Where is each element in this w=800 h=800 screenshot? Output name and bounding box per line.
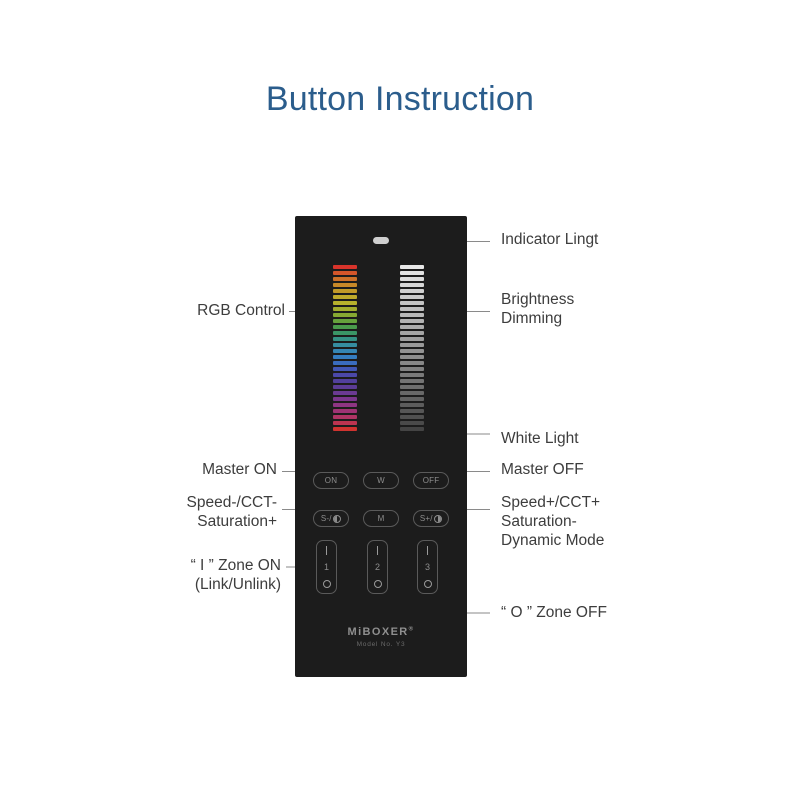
strip-segment[interactable] (400, 313, 424, 317)
half-moon-icon (333, 515, 341, 523)
zone-on-icon[interactable] (377, 546, 379, 555)
callout-master-on: Master ON (125, 461, 277, 480)
callout-speed-plus: Speed+/CCT+ Saturation- Dynamic Mode (501, 494, 604, 551)
strip-segment[interactable] (333, 409, 357, 413)
brand-text: MiBOXER (348, 626, 409, 638)
callout-brightness-dimming: Brightness Dimming (501, 291, 574, 329)
strip-segment[interactable] (400, 361, 424, 365)
brightness-dimming-strip[interactable] (400, 265, 424, 431)
strip-segment[interactable] (333, 385, 357, 389)
speed-minus-button[interactable]: S-/ (313, 510, 349, 527)
strip-segment[interactable] (333, 283, 357, 287)
strip-segment[interactable] (400, 421, 424, 425)
strip-segment[interactable] (400, 385, 424, 389)
strip-segment[interactable] (333, 271, 357, 275)
strip-segment[interactable] (333, 379, 357, 383)
strip-segment[interactable] (400, 409, 424, 413)
zone-off-icon[interactable] (424, 580, 432, 588)
speed-plus-button[interactable]: S+/ (413, 510, 449, 527)
strip-segment[interactable] (333, 343, 357, 347)
strip-segment[interactable] (400, 283, 424, 287)
strip-segment[interactable] (400, 271, 424, 275)
strip-segment[interactable] (400, 355, 424, 359)
zone-number: 2 (375, 563, 380, 572)
zone-button-2[interactable]: 2 (367, 540, 388, 594)
zone-button-1[interactable]: 1 (316, 540, 337, 594)
strip-segment[interactable] (400, 277, 424, 281)
strip-segment[interactable] (333, 355, 357, 359)
strip-segment[interactable] (400, 265, 424, 269)
callout-indicator-light: Indicator Lingt (501, 231, 598, 250)
strip-segment[interactable] (333, 397, 357, 401)
callout-zone-off: “ O ” Zone OFF (501, 604, 607, 623)
rgb-control-strip[interactable] (333, 265, 357, 431)
zone-off-icon[interactable] (374, 580, 382, 588)
strip-segment[interactable] (333, 337, 357, 341)
strip-segment[interactable] (400, 391, 424, 395)
master-on-button[interactable]: ON (313, 472, 349, 489)
callout-rgb-control: RGB Control (125, 302, 285, 321)
registered-trademark-icon: ® (409, 626, 415, 632)
callout-zone-on: “ I ” Zone ON (Link/Unlink) (105, 557, 281, 595)
indicator-light (373, 237, 389, 244)
brand-name: MiBOXER® (295, 626, 467, 638)
zone-on-icon[interactable] (427, 546, 429, 555)
strip-segment[interactable] (400, 301, 424, 305)
strip-segment[interactable] (333, 403, 357, 407)
strip-segment[interactable] (333, 265, 357, 269)
strip-segment[interactable] (333, 325, 357, 329)
strip-segment[interactable] (400, 307, 424, 311)
strip-segment[interactable] (400, 337, 424, 341)
strip-segment[interactable] (400, 397, 424, 401)
strip-segment[interactable] (400, 379, 424, 383)
strip-segment[interactable] (400, 289, 424, 293)
strip-segment[interactable] (333, 319, 357, 323)
strip-segment[interactable] (333, 367, 357, 371)
strip-segment[interactable] (400, 373, 424, 377)
strip-segment[interactable] (333, 361, 357, 365)
brand-block: MiBOXER® Model No. Y3 (295, 626, 467, 648)
strip-segment[interactable] (333, 373, 357, 377)
master-off-button[interactable]: OFF (413, 472, 449, 489)
strip-segment[interactable] (400, 367, 424, 371)
zone-button-3[interactable]: 3 (417, 540, 438, 594)
strip-segment[interactable] (400, 403, 424, 407)
strip-segment[interactable] (333, 415, 357, 419)
instruction-diagram: Button Instruction ON W OFF S (0, 0, 800, 800)
callout-master-off: Master OFF (501, 461, 584, 480)
strip-segment[interactable] (333, 289, 357, 293)
zone-number: 3 (425, 563, 430, 572)
strip-segment[interactable] (333, 331, 357, 335)
strip-segment[interactable] (333, 307, 357, 311)
strip-segment[interactable] (400, 343, 424, 347)
strip-segment[interactable] (333, 313, 357, 317)
strip-segment[interactable] (333, 301, 357, 305)
mode-button[interactable]: M (363, 510, 399, 527)
strip-segment[interactable] (400, 325, 424, 329)
strip-segment[interactable] (400, 427, 424, 431)
speed-minus-label: S-/ (321, 514, 332, 523)
strip-segment[interactable] (333, 295, 357, 299)
strip-segment[interactable] (333, 277, 357, 281)
strip-segment[interactable] (333, 427, 357, 431)
device-panel: ON W OFF S-/ M S+/ 1 2 3 (295, 216, 467, 677)
strip-segment[interactable] (333, 421, 357, 425)
white-light-button[interactable]: W (363, 472, 399, 489)
zone-number: 1 (324, 563, 329, 572)
strip-segment[interactable] (400, 349, 424, 353)
callout-speed-minus: Speed-/CCT- Saturation+ (105, 494, 277, 532)
strip-segment[interactable] (333, 349, 357, 353)
zone-on-icon[interactable] (326, 546, 328, 555)
half-moon-icon (434, 515, 442, 523)
strip-segment[interactable] (400, 319, 424, 323)
speed-plus-label: S+/ (420, 514, 433, 523)
strip-segment[interactable] (333, 391, 357, 395)
zone-off-icon[interactable] (323, 580, 331, 588)
strip-segment[interactable] (400, 415, 424, 419)
callout-white-light: White Light (501, 430, 579, 449)
model-number: Model No. Y3 (295, 641, 467, 648)
strip-segment[interactable] (400, 331, 424, 335)
strip-segment[interactable] (400, 295, 424, 299)
